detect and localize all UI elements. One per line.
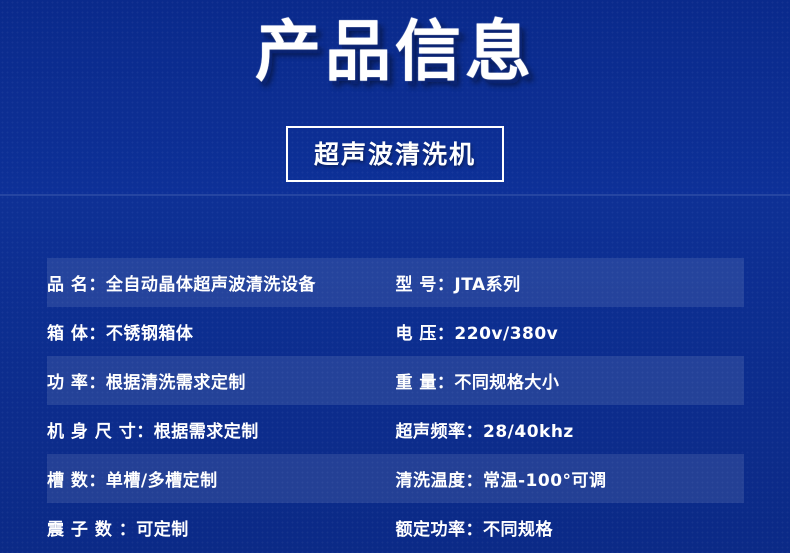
page-title: 产品信息 <box>0 14 790 90</box>
spec-value: 根据清洗需求定制 <box>106 373 246 393</box>
spec-cell-right: 重 量：不同规格大小 <box>396 356 745 405</box>
spec-cell-left: 箱 体：不锈钢箱体 <box>47 307 396 356</box>
spec-cell-right: 超声频率：28/40khz <box>396 405 745 454</box>
spec-value: 28/40khz <box>483 422 574 442</box>
spec-value: 不同规格 <box>483 520 553 540</box>
spec-label: 箱 体： <box>47 324 106 344</box>
subtitle-box: 超声波清洗机 <box>286 126 504 182</box>
spec-cell-left: 机 身 尺 寸：根据需求定制 <box>47 405 396 454</box>
spec-value: 全自动晶体超声波清洗设备 <box>106 275 316 295</box>
spec-cell-left: 槽 数：单槽/多槽定制 <box>47 454 396 503</box>
spec-label: 震 子 数 ： <box>47 520 136 540</box>
spec-value: 不锈钢箱体 <box>106 324 194 344</box>
spec-label: 品 名： <box>47 275 106 295</box>
spec-value: 不同规格大小 <box>454 373 559 393</box>
spec-value: 可定制 <box>136 520 189 540</box>
product-info-banner: 产品信息 超声波清洗机 品 名：全自动晶体超声波清洗设备 型 号：JTA系列 箱… <box>0 0 790 553</box>
spec-cell-left: 品 名：全自动晶体超声波清洗设备 <box>47 258 396 307</box>
spec-label: 额定功率： <box>396 520 484 540</box>
specification-table: 品 名：全自动晶体超声波清洗设备 型 号：JTA系列 箱 体：不锈钢箱体 电 压… <box>47 258 744 552</box>
table-row: 槽 数：单槽/多槽定制 清洗温度：常温-100°可调 <box>47 454 744 503</box>
spec-label: 清洗温度： <box>396 471 484 491</box>
spec-label: 电 压： <box>396 324 455 344</box>
spec-label: 超声频率： <box>396 422 484 442</box>
spec-label: 功 率： <box>47 373 106 393</box>
spec-cell-right: 清洗温度：常温-100°可调 <box>396 454 745 503</box>
spec-cell-left: 功 率：根据清洗需求定制 <box>47 356 396 405</box>
spec-cell-right: 电 压：220v/380v <box>396 307 745 356</box>
table-row: 品 名：全自动晶体超声波清洗设备 型 号：JTA系列 <box>47 258 744 307</box>
spec-value: 单槽/多槽定制 <box>106 471 218 491</box>
spec-value: 常温-100°可调 <box>483 471 607 491</box>
table-row: 箱 体：不锈钢箱体 电 压：220v/380v <box>47 307 744 356</box>
spec-cell-left: 震 子 数 ：可定制 <box>47 503 396 552</box>
table-row: 机 身 尺 寸：根据需求定制 超声频率：28/40khz <box>47 405 744 454</box>
spec-label: 槽 数： <box>47 471 106 491</box>
spec-value: 根据需求定制 <box>154 422 259 442</box>
spec-cell-right: 型 号：JTA系列 <box>396 258 745 307</box>
spec-label: 型 号： <box>396 275 455 295</box>
spec-label: 机 身 尺 寸： <box>47 422 154 442</box>
table-row: 功 率：根据清洗需求定制 重 量：不同规格大小 <box>47 356 744 405</box>
spec-cell-right: 额定功率：不同规格 <box>396 503 745 552</box>
subtitle-text: 超声波清洗机 <box>314 140 476 169</box>
table-row: 震 子 数 ：可定制 额定功率：不同规格 <box>47 503 744 552</box>
spec-value: 220v/380v <box>454 324 558 344</box>
spec-value: JTA系列 <box>454 275 520 295</box>
spec-label: 重 量： <box>396 373 455 393</box>
